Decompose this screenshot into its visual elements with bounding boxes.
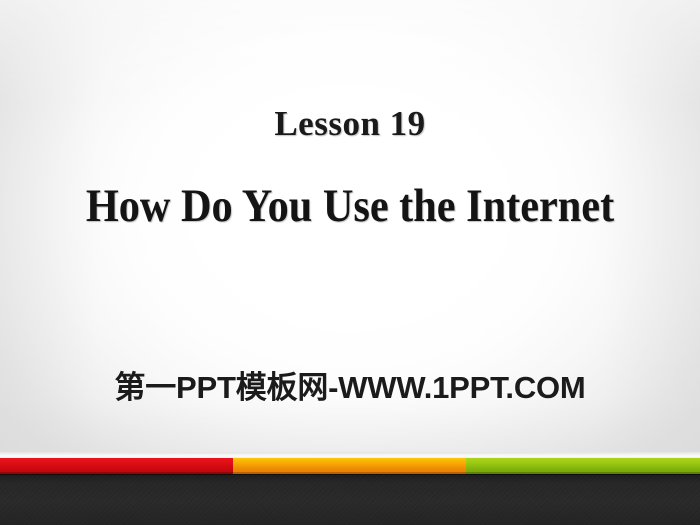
accent-segment-orange <box>233 458 466 474</box>
accent-color-bar <box>0 458 700 474</box>
footer-strip <box>0 474 700 525</box>
footer-top-edge <box>0 474 700 475</box>
footer-texture <box>0 474 700 525</box>
accent-segment-red <box>0 458 233 474</box>
accent-segment-green <box>466 458 700 474</box>
slide-main-title: How Do You Use the Internet <box>35 178 665 234</box>
site-watermark: 第一PPT模板网-WWW.1PPT.COM <box>0 368 700 408</box>
presentation-slide: Lesson 19 How Do You Use the Internet 第一… <box>0 0 700 525</box>
lesson-number-label: Lesson 19 <box>0 103 700 145</box>
